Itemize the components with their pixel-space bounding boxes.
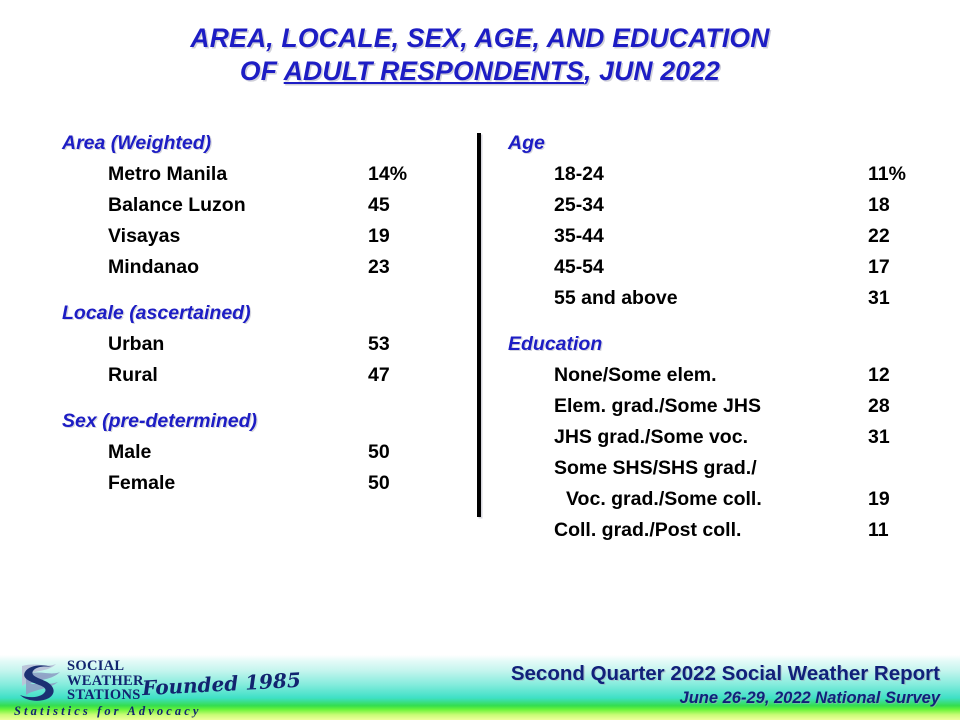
row-label: Balance Luzon: [62, 190, 246, 221]
row-value: 18: [868, 190, 890, 221]
section-locale: Locale (ascertained) Urban 53 Rural 47: [62, 298, 462, 391]
data-row: Urban 53: [62, 329, 462, 360]
data-row: 18-24 11%: [508, 159, 918, 190]
row-label: Mindanao: [62, 252, 199, 283]
row-value: 17: [868, 252, 890, 283]
section-header-sex: Sex (pre-determined): [62, 406, 462, 437]
row-label: 55 and above: [508, 283, 678, 314]
row-value: 23: [368, 252, 390, 283]
data-row: Elem. grad./Some JHS 28: [508, 391, 918, 422]
left-column: Area (Weighted) Metro Manila 14% Balance…: [62, 128, 462, 499]
title-line-2-prefix: OF: [240, 56, 284, 86]
row-value: 19: [868, 484, 890, 515]
section-spacer: [62, 391, 462, 406]
row-label: 45-54: [508, 252, 604, 283]
title-line-2: OF ADULT RESPONDENTS, JUN 2022: [0, 55, 960, 88]
row-value: 11%: [868, 159, 906, 190]
row-value: 22: [868, 221, 890, 252]
row-value: 14%: [368, 159, 407, 190]
page-title: AREA, LOCALE, SEX, AGE, AND EDUCATION OF…: [0, 22, 960, 88]
data-row: Male 50: [62, 437, 462, 468]
row-label: Elem. grad./Some JHS: [508, 391, 761, 422]
footer-survey-dates: June 26-29, 2022 National Survey: [511, 687, 940, 709]
row-label: Urban: [62, 329, 164, 360]
data-row: Coll. grad./Post coll. 11: [508, 515, 918, 546]
row-value: 31: [868, 422, 890, 453]
data-row: Visayas 19: [62, 221, 462, 252]
title-line-2-underlined: ADULT RESPONDENTS: [284, 56, 584, 86]
section-sex: Sex (pre-determined) Male 50 Female 50: [62, 406, 462, 499]
data-row: Some SHS/SHS grad./: [508, 453, 918, 484]
data-row: Mindanao 23: [62, 252, 462, 283]
row-value: 12: [868, 360, 890, 391]
row-value: 31: [868, 283, 890, 314]
sws-swoosh-icon: [12, 660, 68, 704]
section-education: Education None/Some elem. 12 Elem. grad.…: [508, 329, 918, 546]
row-value: 47: [368, 360, 390, 391]
row-label: Metro Manila: [62, 159, 227, 190]
row-value: 19: [368, 221, 390, 252]
data-row: 35-44 22: [508, 221, 918, 252]
title-line-2-suffix: , JUN 2022: [584, 56, 720, 86]
row-value: 53: [368, 329, 390, 360]
row-label: Female: [62, 468, 175, 499]
section-spacer: [62, 283, 462, 298]
title-line-1: AREA, LOCALE, SEX, AGE, AND EDUCATION: [0, 22, 960, 55]
section-header-age: Age: [508, 128, 918, 159]
section-header-area: Area (Weighted): [62, 128, 462, 159]
data-row: 55 and above 31: [508, 283, 918, 314]
section-header-education: Education: [508, 329, 918, 360]
section-header-locale: Locale (ascertained): [62, 298, 462, 329]
data-row: Metro Manila 14%: [62, 159, 462, 190]
row-label: JHS grad./Some voc.: [508, 422, 748, 453]
row-label: Visayas: [62, 221, 180, 252]
row-label: Rural: [62, 360, 158, 391]
section-spacer: [508, 314, 918, 329]
row-label: Male: [62, 437, 151, 468]
right-column: Age 18-24 11% 25-34 18 35-44 22 45-54 17…: [508, 128, 918, 546]
column-divider: [477, 133, 481, 517]
data-row: Balance Luzon 45: [62, 190, 462, 221]
row-value: 50: [368, 437, 390, 468]
section-age: Age 18-24 11% 25-34 18 35-44 22 45-54 17…: [508, 128, 918, 314]
footer-report-info: Second Quarter 2022 Social Weather Repor…: [511, 661, 940, 709]
sws-logo: SOCIAL WEATHER STATIONS Founded 1985 Sta…: [12, 658, 282, 718]
row-label: None/Some elem.: [508, 360, 717, 391]
data-row: JHS grad./Some voc. 31: [508, 422, 918, 453]
row-label: Coll. grad./Post coll.: [508, 515, 741, 546]
row-value: 45: [368, 190, 390, 221]
data-row: Rural 47: [62, 360, 462, 391]
data-row: Female 50: [62, 468, 462, 499]
section-area: Area (Weighted) Metro Manila 14% Balance…: [62, 128, 462, 283]
row-label: Some SHS/SHS grad./: [508, 453, 757, 484]
data-row: Voc. grad./Some coll. 19: [508, 484, 918, 515]
row-value: 11: [868, 515, 889, 546]
sws-tagline: Statistics for Advocacy: [14, 704, 202, 719]
row-label: 35-44: [508, 221, 604, 252]
row-label: 18-24: [508, 159, 604, 190]
footer-bar: SOCIAL WEATHER STATIONS Founded 1985 Sta…: [0, 655, 960, 720]
footer-report-title: Second Quarter 2022 Social Weather Repor…: [511, 661, 940, 687]
row-value: 50: [368, 468, 390, 499]
data-row: 45-54 17: [508, 252, 918, 283]
data-row: 25-34 18: [508, 190, 918, 221]
row-value: 28: [868, 391, 890, 422]
row-label: 25-34: [508, 190, 604, 221]
row-label: Voc. grad./Some coll.: [508, 484, 762, 515]
data-row: None/Some elem. 12: [508, 360, 918, 391]
